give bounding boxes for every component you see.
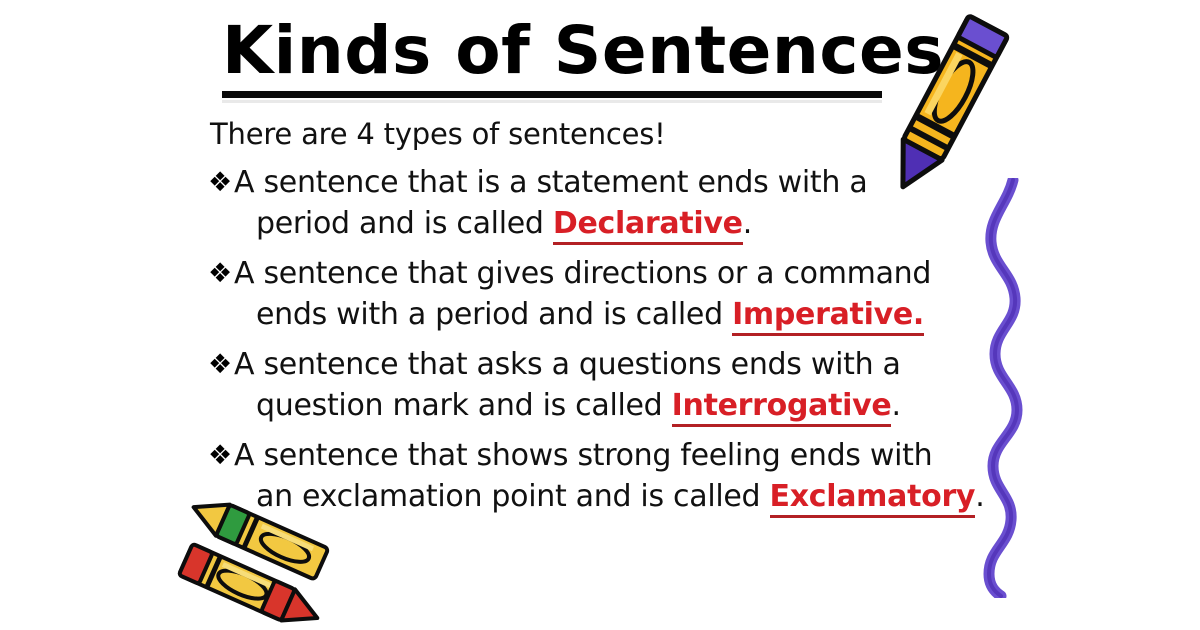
list-item-line-2: question mark and is called Interrogativ… (234, 385, 978, 426)
squiggle-icon (955, 178, 1075, 598)
crayon-illustration-bottom-left (160, 500, 345, 630)
list-item-line-2-prefix: ends with a period and is called (256, 297, 732, 332)
list-item-text: A sentence that gives directions or a co… (234, 253, 978, 335)
list-item-line-1: A sentence that shows strong feeling end… (234, 435, 984, 476)
list-item: ❖ A sentence that asks a questions ends … (208, 344, 978, 426)
list-item-line-2: an exclamation point and is called Excla… (234, 476, 984, 517)
yellow-crayon-icon (868, 2, 1028, 202)
list-item-line-1: A sentence that gives directions or a co… (234, 253, 978, 294)
list-item-line-2-suffix: . (743, 206, 752, 241)
list-item-line-1: A sentence that is a statement ends with… (234, 162, 978, 203)
purple-squiggle-illustration (955, 178, 1075, 598)
list-item-line-2-prefix: question mark and is called (256, 388, 672, 423)
list-item-line-1: A sentence that asks a questions ends wi… (234, 344, 978, 385)
diamond-bullet-icon: ❖ (208, 162, 234, 203)
list-item-line-2-suffix: . (891, 388, 900, 423)
list-item: ❖ A sentence that is a statement ends wi… (208, 162, 978, 244)
keyword-interrogative: Interrogative (672, 388, 892, 427)
page-title: Kinds of Sentences (222, 14, 882, 88)
diamond-bullet-icon: ❖ (208, 344, 234, 385)
two-crossed-crayons-icon (160, 500, 345, 630)
poster-canvas: Kinds of Sentences There are 4 types of … (0, 0, 1200, 630)
list-item-line-2-prefix: period and is called (256, 206, 553, 241)
list-item: ❖ A sentence that gives directions or a … (208, 253, 978, 335)
intro-line: There are 4 types of sentences! (210, 115, 666, 153)
list-item-text: A sentence that shows strong feeling end… (234, 435, 984, 517)
list-item-line-2: period and is called Declarative. (234, 203, 978, 244)
keyword-declarative: Declarative (553, 206, 743, 245)
list-item-line-2: ends with a period and is called Imperat… (234, 294, 978, 335)
list-item-text: A sentence that asks a questions ends wi… (234, 344, 978, 426)
keyword-imperative: Imperative. (732, 297, 924, 336)
list-item-text: A sentence that is a statement ends with… (234, 162, 978, 244)
crayon-illustration-top-right (868, 2, 1028, 202)
title-underline-rule (222, 91, 882, 100)
keyword-exclamatory: Exclamatory (770, 479, 976, 518)
sentence-types-list: ❖ A sentence that is a statement ends wi… (208, 162, 978, 526)
diamond-bullet-icon: ❖ (208, 253, 234, 294)
diamond-bullet-icon: ❖ (208, 435, 234, 476)
page-title-block: Kinds of Sentences (222, 14, 882, 100)
